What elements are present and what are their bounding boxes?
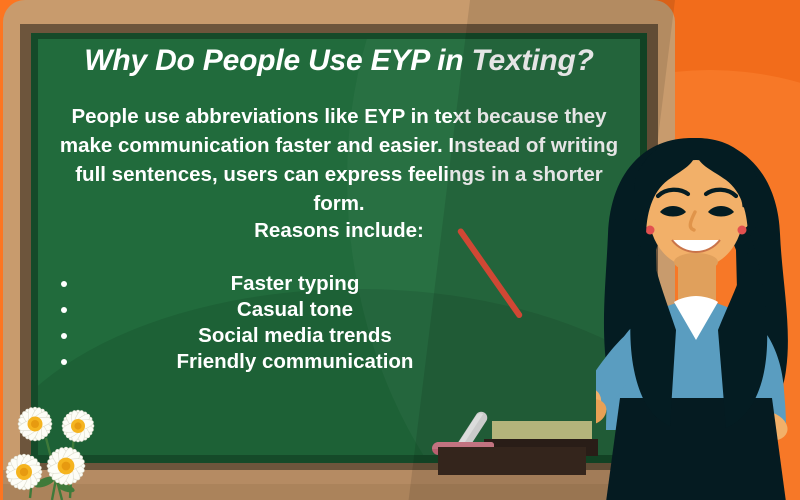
list-item-label: Faster typing [38, 271, 640, 297]
list-item: Social media trends [38, 323, 640, 349]
earring-right [738, 226, 747, 235]
reasons-lead-in: Reasons include: [48, 219, 630, 243]
bullet-icon [61, 281, 67, 287]
list-item: Friendly communication [38, 349, 640, 375]
bullet-icon [61, 359, 67, 365]
body-paragraph: People use abbreviations like EYP in tex… [48, 102, 630, 218]
poster-canvas: Why Do People Use EYP in Texting? People… [0, 0, 800, 500]
page-title: Why Do People Use EYP in Texting? [38, 44, 640, 78]
daisy-bloom [17, 406, 53, 442]
list-item-label: Casual tone [38, 297, 640, 323]
list-item-label: Social media trends [38, 323, 640, 349]
skirt [606, 398, 786, 500]
chalk-tray-front [438, 447, 586, 475]
list-item-label: Friendly communication [38, 349, 640, 375]
reasons-list: Faster typing Casual tone Social media t… [38, 271, 640, 375]
daisy-bloom [61, 409, 94, 442]
list-item: Casual tone [38, 297, 640, 323]
daisy-flowers [0, 378, 200, 500]
teacher-illustration [596, 130, 800, 500]
bullet-icon [61, 307, 67, 313]
list-item: Faster typing [38, 271, 640, 297]
earring-left [646, 226, 655, 235]
bullet-icon [61, 333, 67, 339]
